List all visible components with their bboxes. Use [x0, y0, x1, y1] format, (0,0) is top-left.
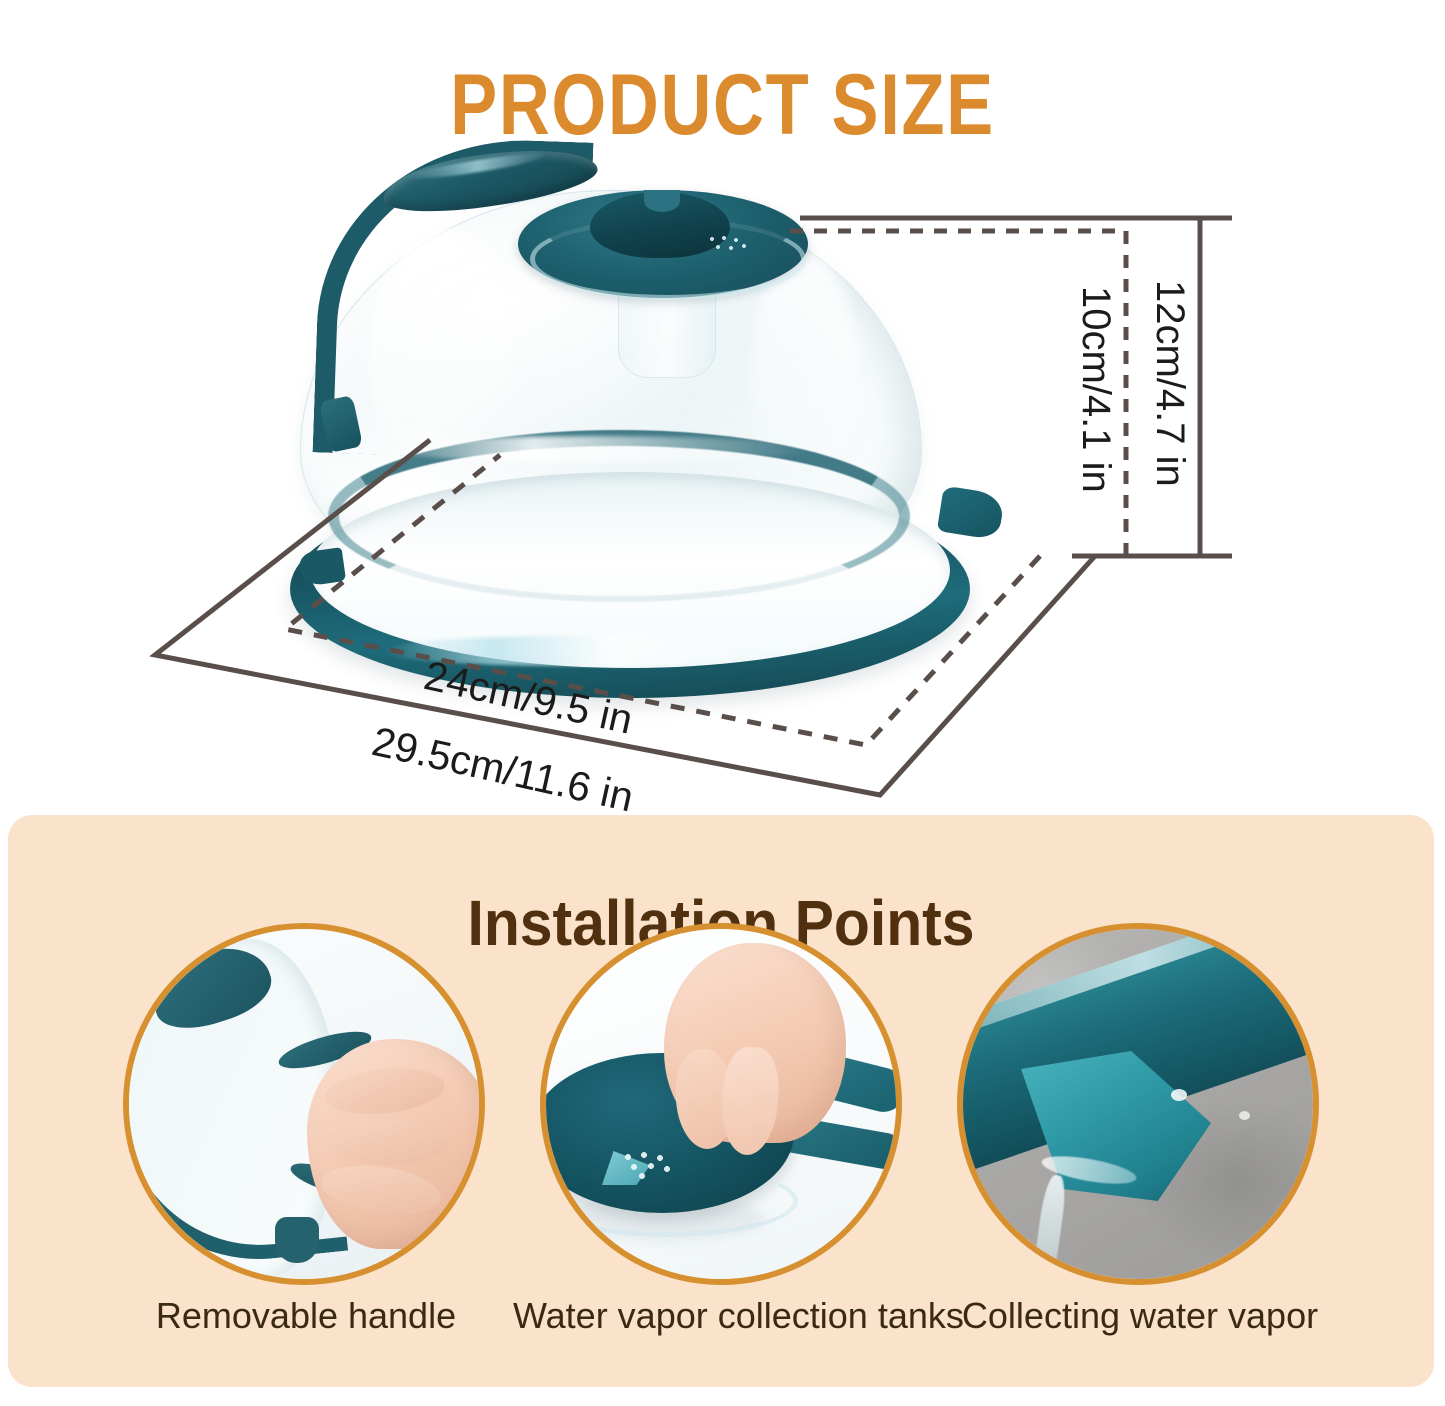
feature-removable-handle: Removable handle — [96, 923, 516, 1363]
feature-row: Removable handle Water va — [8, 923, 1434, 1363]
vent-holes — [706, 234, 762, 256]
installation-points-panel: Installation Points Remova — [8, 815, 1434, 1387]
product-size-section: PRODUCT SIZE — [0, 0, 1445, 815]
vent-knob-notch — [644, 190, 680, 212]
feature-caption-water-vapor-collection-tanks: Water vapor collection tanks — [513, 1295, 933, 1337]
feature-image-water-vapor-collection-tanks — [540, 923, 902, 1285]
feature-image-collecting-water-vapor — [957, 923, 1319, 1285]
feature-collecting-water-vapor: Collecting water vapor — [930, 923, 1350, 1363]
feature-caption-collecting-water-vapor: Collecting water vapor — [930, 1295, 1350, 1337]
feature-water-vapor-collection-tanks: Water vapor collection tanks — [513, 923, 933, 1363]
dimension-label-height-outer: 12cm/4.7 in — [1147, 280, 1192, 487]
base-tab-right — [937, 485, 1005, 540]
product-photo — [150, 130, 1110, 690]
dimension-label-height-inner: 10cm/4.1 in — [1073, 286, 1118, 493]
feature-caption-removable-handle: Removable handle — [96, 1295, 516, 1337]
feature-image-removable-handle — [123, 923, 485, 1285]
